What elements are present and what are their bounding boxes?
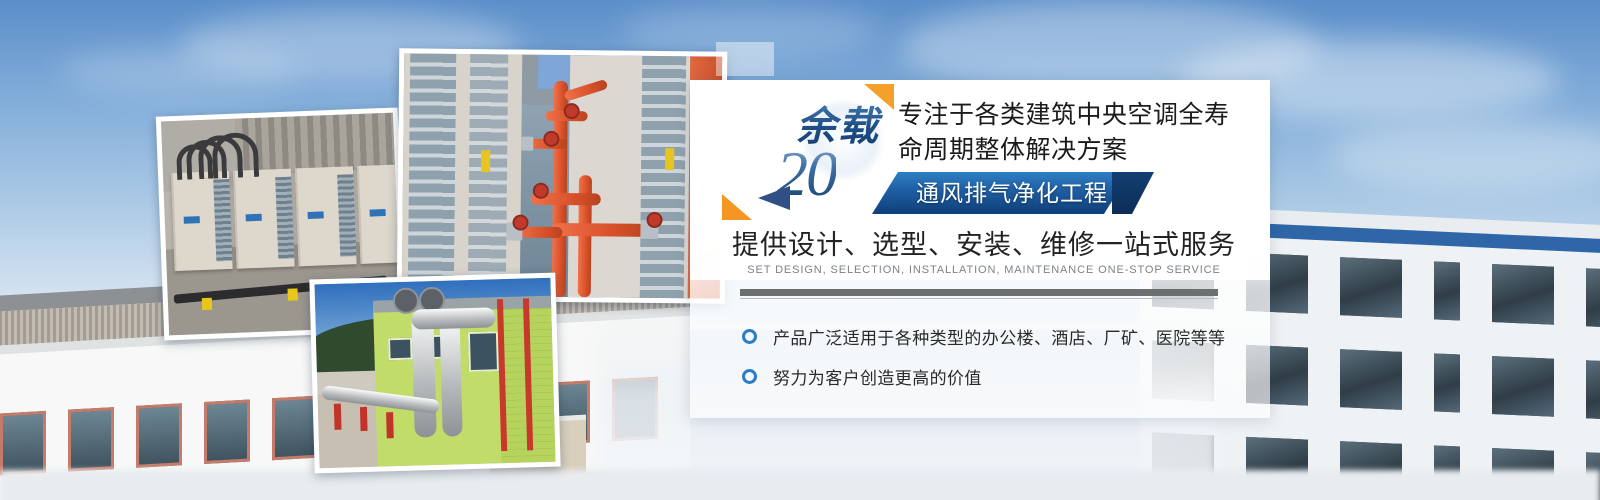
list-item: 努力为客户创造更高的价值 [742, 356, 1242, 396]
content-panel: 余载 20 专注于各类建筑中央空调全寿命周期整体解决方案 通风排气净化工程 提供… [690, 80, 1270, 418]
window [272, 396, 318, 461]
support-post [360, 407, 368, 431]
support-post [334, 404, 342, 430]
window [136, 403, 182, 468]
valve-handwheel [512, 214, 528, 230]
warning-tag [481, 150, 490, 172]
service-subline: 提供设计、选型、安装、维修一站式服务 [724, 228, 1244, 262]
valve-handwheel [564, 103, 580, 119]
valve-handwheel [543, 131, 559, 147]
photo-red-pipework-chillers [397, 48, 728, 303]
blue-corner-arrow-icon [756, 184, 792, 212]
window [1340, 349, 1402, 410]
divider-bar [740, 289, 1218, 296]
orange-corner-arrow-icon [720, 192, 754, 222]
chiller-unit-left [402, 53, 523, 296]
window [0, 411, 46, 476]
list-item-label: 产品广泛适用于各种类型的办公楼、酒店、厂矿、医院等等 [773, 324, 1225, 349]
decorative-square [716, 42, 774, 76]
valve-handwheel [533, 183, 549, 199]
branch-pipe [552, 223, 650, 237]
hero-banner: 余载 20 专注于各类建筑中央空调全寿命周期整体解决方案 通风排气净化工程 提供… [0, 0, 1600, 500]
window [1586, 360, 1600, 421]
pipe-flange [521, 137, 533, 151]
insulated-duct [411, 311, 437, 438]
condenser-unit [171, 171, 233, 271]
window [1492, 356, 1554, 417]
bullet-list: 产品广泛适用于各种类型的办公楼、酒店、厂矿、医院等等 努力为客户创造更高的价值 [742, 316, 1242, 396]
divider-thin-line [740, 298, 1218, 299]
blue-ring-icon [742, 329, 757, 344]
pipe-tag [287, 288, 297, 300]
window [1434, 261, 1460, 320]
list-item: 产品广泛适用于各种类型的办公楼、酒店、厂矿、医院等等 [742, 316, 1242, 356]
condenser-unit [357, 164, 401, 264]
refrigerant-hose [211, 132, 259, 179]
window [1434, 353, 1460, 412]
pipe-tag [202, 298, 212, 310]
headline-text: 专注于各类建筑中央空调全寿命周期整体解决方案 [898, 98, 1254, 168]
insulated-duct [439, 316, 462, 437]
window [204, 399, 250, 464]
support-post [386, 412, 394, 438]
cloud [60, 48, 300, 94]
condenser-unit [233, 169, 295, 269]
photo-rooftop-insulated-ducts [309, 273, 560, 474]
valve-handwheel [646, 212, 662, 228]
ribbon-label: 通风排气净化工程 [916, 172, 1136, 214]
window [1492, 264, 1554, 325]
list-item-label: 努力为客户创造更高的价值 [773, 364, 982, 389]
insulated-duct [411, 307, 496, 329]
condenser-unit [295, 166, 357, 266]
service-subline-english: SET DESIGN, SELECTION, INSTALLATION, MAI… [724, 264, 1244, 276]
blue-ring-icon [742, 369, 757, 384]
ground-blur [0, 470, 1600, 500]
window [1586, 268, 1600, 329]
orange-corner-arrow-icon [862, 82, 896, 112]
window [388, 338, 413, 361]
warning-tag [665, 148, 674, 170]
window [1340, 257, 1402, 318]
ribbon-banner: 通风排气净化工程 [872, 172, 1162, 214]
window [68, 407, 114, 472]
window [468, 331, 499, 372]
